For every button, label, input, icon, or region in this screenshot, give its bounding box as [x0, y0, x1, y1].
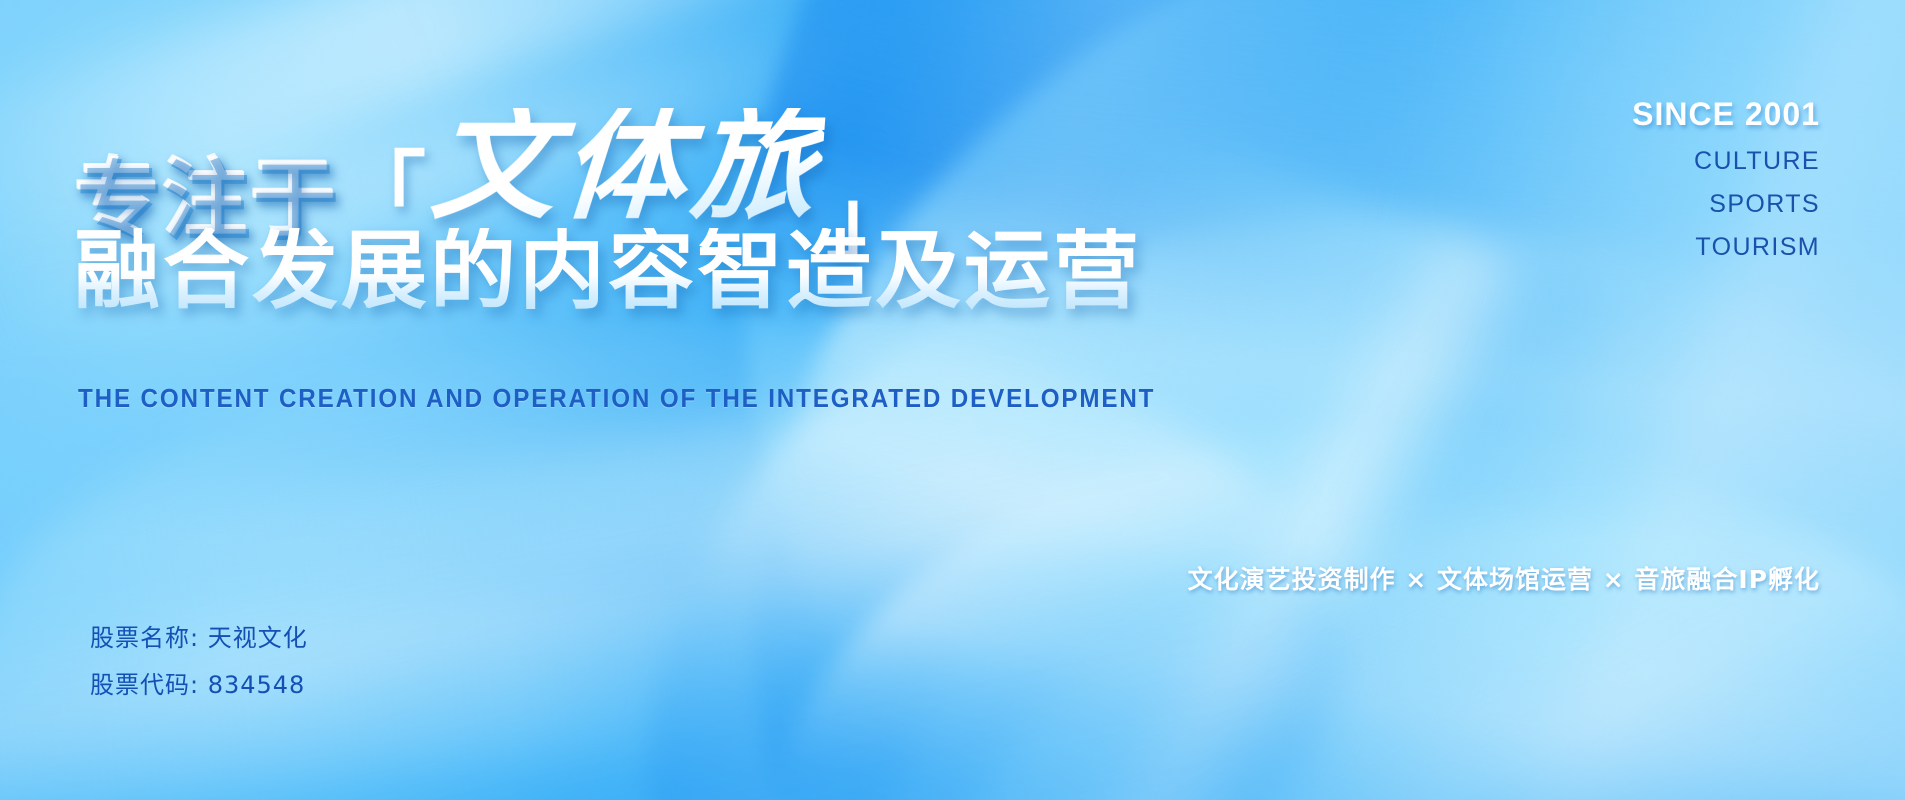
right-info-block: SINCE 2001 CULTURE SPORTS TOURISM	[1632, 96, 1820, 278]
since-label: SINCE 2001	[1632, 96, 1820, 133]
headline-subtitle-en: THE CONTENT CREATION AND OPERATION OF TH…	[78, 383, 1155, 414]
promo-banner: 专注于 「 文体旅 」 融合发展的内容智造及运营 THE CONTENT CRE…	[0, 0, 1905, 800]
keyword-sports: SPORTS	[1632, 192, 1820, 217]
business-tagline: 文化演艺投资制作 × 文体场馆运营 × 音旅融合IP孵化	[1188, 560, 1820, 596]
stock-name: 股票名称: 天视文化	[90, 626, 308, 650]
headline-line-2: 融合发展的内容智造及运营	[74, 228, 1142, 314]
banner-content: 专注于 「 文体旅 」 融合发展的内容智造及运营 THE CONTENT CRE…	[0, 0, 1905, 800]
stock-info: 股票名称: 天视文化 股票代码: 834548	[90, 626, 308, 720]
stock-code: 股票代码: 834548	[90, 673, 308, 697]
keyword-culture: CULTURE	[1632, 149, 1820, 174]
headline-emphasis: 文体旅	[428, 108, 826, 222]
keyword-tourism: TOURISM	[1632, 235, 1820, 260]
